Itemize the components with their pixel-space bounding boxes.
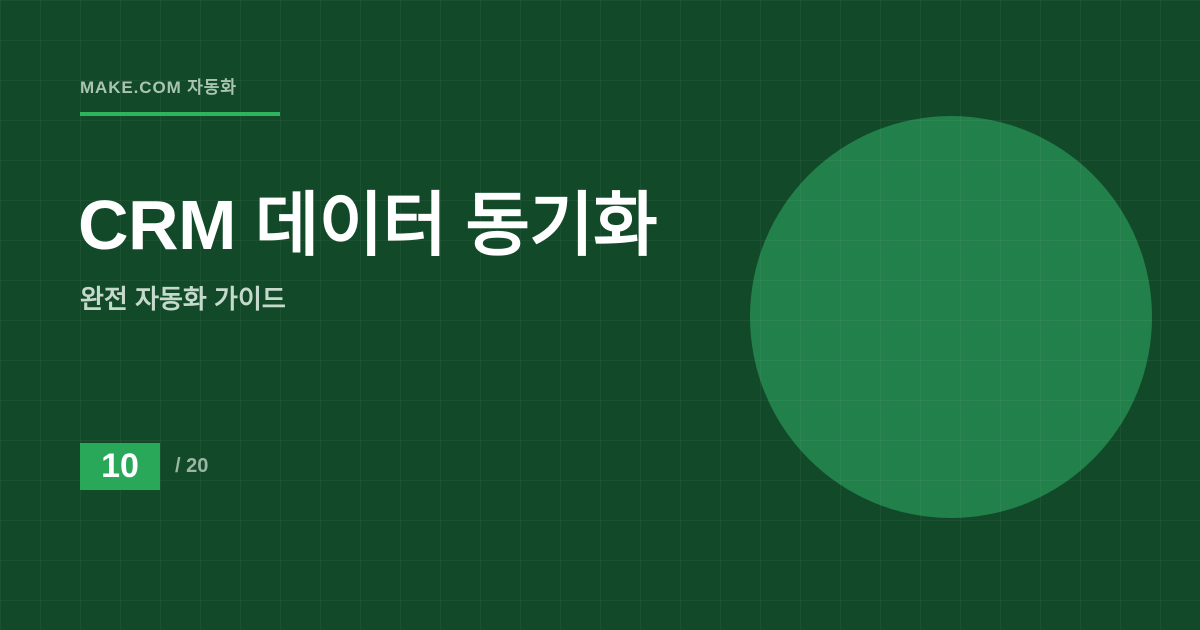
- eyebrow-label: MAKE.COM 자동화: [80, 76, 280, 100]
- progress-current-badge: 10: [80, 443, 160, 490]
- slide-canvas: MAKE.COM 자동화 CRM 데이터 동기화 완전 자동화 가이드 10 /…: [0, 0, 1200, 630]
- progress-indicator: 10 / 20: [80, 443, 208, 490]
- eyebrow-block: MAKE.COM 자동화: [80, 76, 280, 116]
- slide-content: MAKE.COM 자동화 CRM 데이터 동기화 완전 자동화 가이드 10 /…: [0, 0, 1200, 630]
- accent-underline-bar: [80, 112, 280, 116]
- progress-total-label: / 20: [175, 455, 208, 478]
- page-subtitle: 완전 자동화 가이드: [80, 281, 286, 317]
- page-title: CRM 데이터 동기화: [78, 182, 657, 268]
